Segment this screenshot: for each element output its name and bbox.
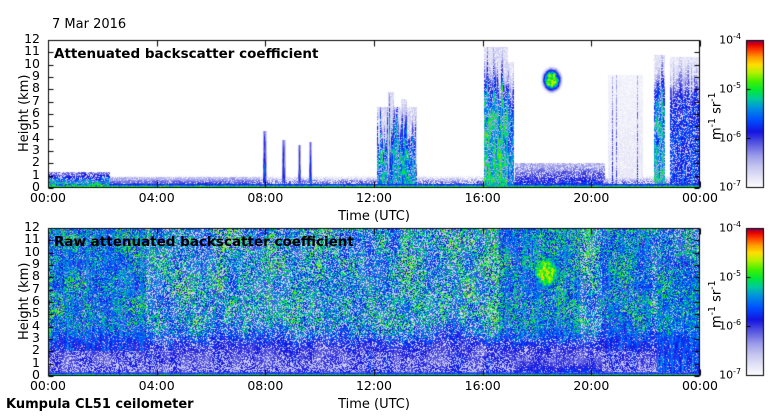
ytick-label: 2 xyxy=(32,156,40,169)
ytick-label: 7 xyxy=(32,95,40,108)
text-overlay: 7 Mar 2016Kumpula CL51 ceilometerAttenua… xyxy=(0,0,780,420)
xtick-label: 00:00 xyxy=(682,380,718,393)
ytick-label: 5 xyxy=(32,119,40,132)
ytick-label: 10 xyxy=(24,246,40,259)
ylabel-attenuated-backscatter: Height (km) xyxy=(18,75,31,152)
xtick-label: 04:00 xyxy=(139,192,175,205)
ytick-label: 10 xyxy=(24,58,40,71)
xtick-label: 12:00 xyxy=(356,192,392,205)
ytick-label: 1 xyxy=(32,357,40,370)
ytick-label: 6 xyxy=(32,295,40,308)
ytick-label: 4 xyxy=(32,132,40,145)
xlabel-attenuated-backscatter: Time (UTC) xyxy=(338,210,410,223)
colorbar-unit-label: m-1 sr-1 xyxy=(708,280,723,328)
xtick-label: 00:00 xyxy=(30,380,66,393)
ytick-label: 8 xyxy=(32,270,40,283)
figure-date-title: 7 Mar 2016 xyxy=(52,18,126,31)
panel-label-raw-attenuated-backscatter: Raw attenuated backscatter coefficient xyxy=(54,236,354,250)
ytick-label: 3 xyxy=(32,144,40,157)
ytick-label: 1 xyxy=(32,169,40,182)
xtick-label: 16:00 xyxy=(465,380,501,393)
xtick-label: 12:00 xyxy=(356,380,392,393)
ytick-label: 11 xyxy=(24,45,40,58)
xtick-label: 08:00 xyxy=(247,380,283,393)
ytick-label: 5 xyxy=(32,307,40,320)
xtick-label: 00:00 xyxy=(682,192,718,205)
ytick-label: 12 xyxy=(24,33,40,46)
colorbar-tick-label: 10-7 xyxy=(719,368,741,381)
xtick-label: 04:00 xyxy=(139,380,175,393)
ylabel-raw-attenuated-backscatter: Height (km) xyxy=(18,263,31,340)
panel-label-attenuated-backscatter: Attenuated backscatter coefficient xyxy=(54,48,318,62)
ytick-label: 8 xyxy=(32,82,40,95)
xtick-label: 00:00 xyxy=(30,192,66,205)
xlabel-raw-attenuated-backscatter: Time (UTC) xyxy=(338,398,410,411)
ytick-label: 4 xyxy=(32,320,40,333)
xtick-label: 16:00 xyxy=(465,192,501,205)
xtick-label: 20:00 xyxy=(573,380,609,393)
colorbar-tick-label: 10-7 xyxy=(719,180,741,193)
ytick-label: 6 xyxy=(32,107,40,120)
ytick-label: 9 xyxy=(32,70,40,83)
colorbar-tick-label: 10-4 xyxy=(719,33,741,46)
instrument-footer-label: Kumpula CL51 ceilometer xyxy=(6,398,194,411)
ytick-label: 2 xyxy=(32,344,40,357)
xtick-label: 08:00 xyxy=(247,192,283,205)
ytick-label: 3 xyxy=(32,332,40,345)
colorbar-unit-label: m-1 sr-1 xyxy=(708,92,723,140)
ytick-label: 9 xyxy=(32,258,40,271)
ytick-label: 11 xyxy=(24,233,40,246)
xtick-label: 20:00 xyxy=(573,192,609,205)
ceilometer-figure: 7 Mar 2016Kumpula CL51 ceilometerAttenua… xyxy=(0,0,780,420)
ytick-label: 12 xyxy=(24,221,40,234)
ytick-label: 7 xyxy=(32,283,40,296)
colorbar-tick-label: 10-4 xyxy=(719,221,741,234)
